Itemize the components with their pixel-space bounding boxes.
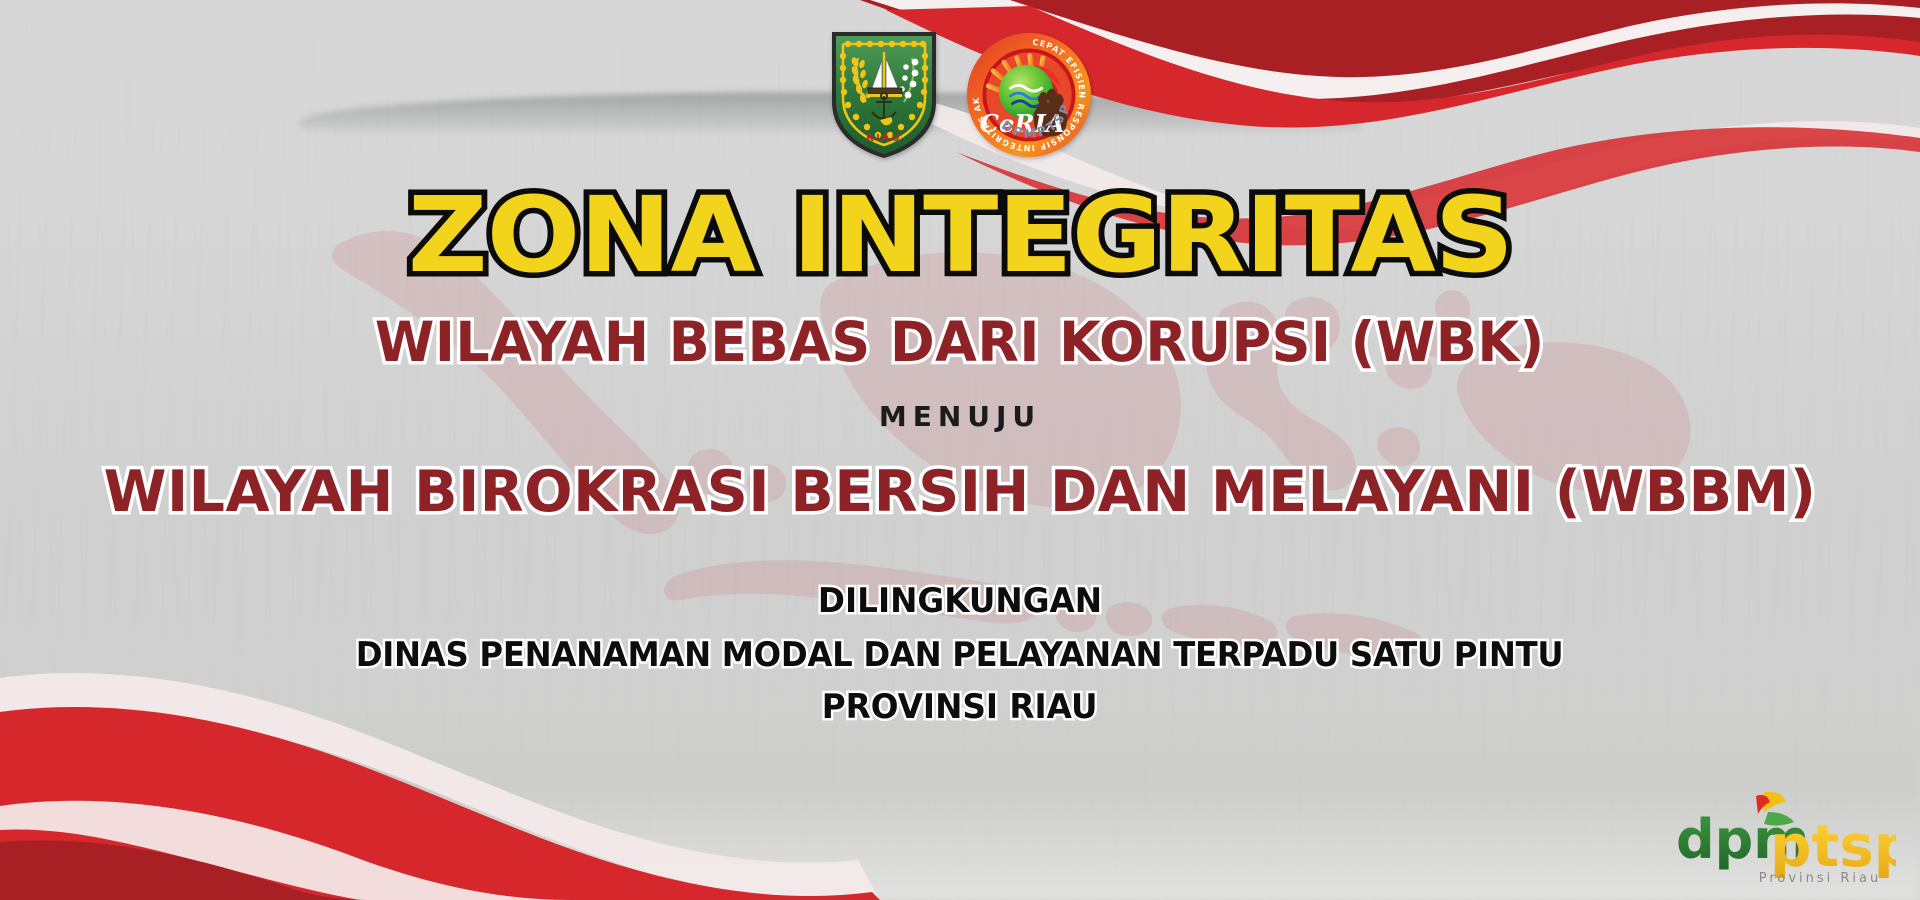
ptsp-text: ptsp xyxy=(1770,812,1896,880)
emblem-row: RIAU xyxy=(0,28,1920,160)
ceria-dpmptsp-emblem-icon: CEPAT EFISIEN RESPONSIF INTEGRITAS AKUNT… xyxy=(966,32,1092,158)
riau-provincial-emblem-icon: RIAU xyxy=(828,28,940,160)
svg-text:RIAU: RIAU xyxy=(866,133,902,144)
dpmptsp-tagline: Provinsi Riau xyxy=(1759,871,1882,886)
zona-integritas-banner: RIAU xyxy=(0,0,1920,900)
background-ground-haze xyxy=(0,650,1920,900)
dpmptsp-wordmark-logo: dpm ptsp Provinsi Riau xyxy=(1660,784,1896,888)
